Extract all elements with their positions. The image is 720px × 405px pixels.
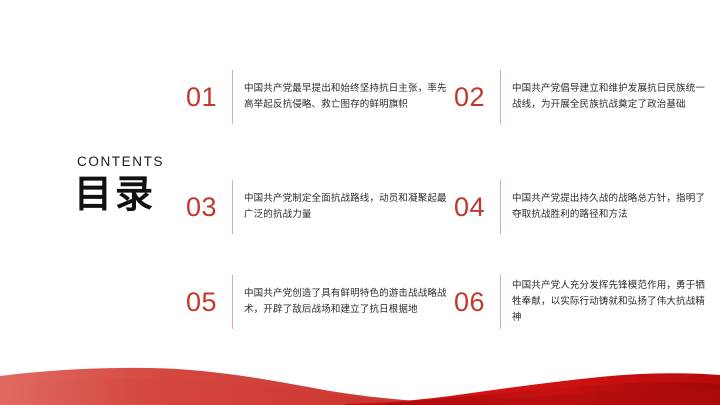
contents-item-grid: 01 中国共产党最早提出和始终坚持抗日主张，率先高举起反抗侵略、救亡图存的鲜明旗…	[186, 58, 706, 343]
item-divider-rule	[232, 70, 233, 124]
item-text-06: 中国共产党人充分发挥先锋模范作用，勇于牺牲奉献，以实际行动铸就和弘扬了伟大抗战精…	[512, 278, 712, 327]
contents-row-1: 01 中国共产党最早提出和始终坚持抗日主张，率先高举起反抗侵略、救亡图存的鲜明旗…	[186, 66, 706, 128]
item-divider-rule	[500, 180, 501, 234]
item-text-03: 中国共产党制定全面抗战路线，动员和凝聚起最广泛的抗战力量	[244, 191, 454, 224]
item-divider-rule	[232, 275, 233, 329]
contents-item-06[interactable]: 06 中国共产党人充分发挥先锋模范作用，勇于牺牲奉献，以实际行动铸就和弘扬了伟大…	[454, 271, 712, 333]
item-number-05: 05	[186, 289, 232, 316]
contents-item-01[interactable]: 01 中国共产党最早提出和始终坚持抗日主张，率先高举起反抗侵略、救亡图存的鲜明旗…	[186, 66, 454, 128]
item-number-01: 01	[186, 84, 232, 111]
item-number-03: 03	[186, 194, 232, 221]
contents-row-2: 03 中国共产党制定全面抗战路线，动员和凝聚起最广泛的抗战力量 04 中国共产党…	[186, 176, 706, 238]
item-text-01: 中国共产党最早提出和始终坚持抗日主张，率先高举起反抗侵略、救亡图存的鲜明旗帜	[244, 81, 454, 114]
item-number-06: 06	[454, 289, 500, 316]
item-text-02: 中国共产党倡导建立和维护发展抗日民族统一战线，为开展全民族抗战奠定了政治基础	[512, 81, 712, 114]
contents-item-04[interactable]: 04 中国共产党提出持久战的战略总方针，指明了夺取抗战胜利的路径和方法	[454, 176, 712, 238]
item-divider-rule	[232, 180, 233, 234]
item-text-05: 中国共产党创造了具有鲜明特色的游击战战略战术，开辟了敌后战场和建立了抗日根据地	[244, 286, 454, 319]
bottom-wave-decoration	[0, 345, 720, 405]
contents-row-3: 05 中国共产党创造了具有鲜明特色的游击战战略战术，开辟了敌后战场和建立了抗日根…	[186, 271, 706, 333]
slide-canvas: CONTENTS 目录 01 中国共产党最早提出和始终坚持抗日主张，率先高举起反…	[0, 0, 720, 405]
wave-light-left	[0, 368, 480, 405]
wave-light-left-overlap	[0, 379, 400, 405]
item-divider-rule	[500, 275, 501, 329]
contents-item-03[interactable]: 03 中国共产党制定全面抗战路线，动员和凝聚起最广泛的抗战力量	[186, 176, 454, 238]
contents-item-05[interactable]: 05 中国共产党创造了具有鲜明特色的游击战战略战术，开辟了敌后战场和建立了抗日根…	[186, 271, 454, 333]
contents-item-02[interactable]: 02 中国共产党倡导建立和维护发展抗日民族统一战线，为开展全民族抗战奠定了政治基…	[454, 66, 712, 128]
wave-dark-right	[345, 373, 720, 405]
wave-dark-right-overlap	[380, 382, 720, 405]
item-number-04: 04	[454, 194, 500, 221]
item-text-04: 中国共产党提出持久战的战略总方针，指明了夺取抗战胜利的路径和方法	[512, 191, 712, 224]
item-number-02: 02	[454, 84, 500, 111]
item-divider-rule	[500, 70, 501, 124]
wave-dark-right-accent	[370, 389, 720, 405]
